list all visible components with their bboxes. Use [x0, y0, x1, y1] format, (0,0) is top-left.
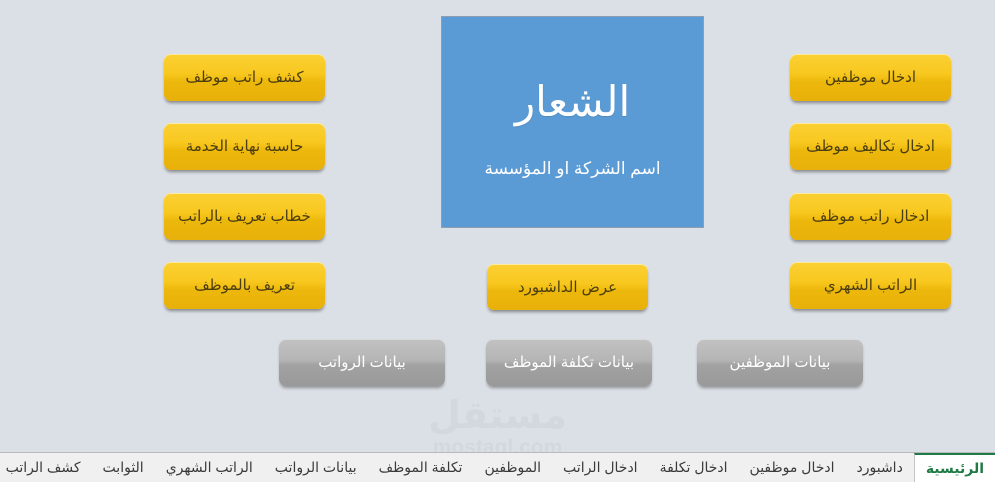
- sheet-tab-label: ادخال تكلفة: [660, 459, 728, 476]
- employees-data-button[interactable]: بيانات الموظفين: [697, 339, 863, 386]
- sheet-tab-5[interactable]: الموظفين: [473, 453, 552, 482]
- end-of-service-calc-button[interactable]: حاسبة نهاية الخدمة: [164, 123, 325, 170]
- monthly-salary-button[interactable]: الراتب الشهري: [790, 262, 951, 309]
- sheet-tab-label: تكلفة الموظف: [379, 459, 463, 476]
- sheet-tab-label: ادخال موظفين: [750, 459, 835, 476]
- add-employee-costs-button[interactable]: ادخال تكاليف موظف: [790, 123, 951, 170]
- sheet-tab-label: كشف الراتب: [6, 459, 81, 476]
- sheet-tab-label: داشبورد: [857, 459, 903, 476]
- sheet-tab-label: الموظفين: [484, 459, 541, 476]
- sheet-tab-9[interactable]: الثوابت: [92, 453, 155, 482]
- salary-letter-button[interactable]: خطاب تعريف بالراتب: [164, 193, 325, 240]
- logo-title: الشعار: [515, 79, 630, 125]
- sheet-tab-3[interactable]: ادخال تكلفة: [649, 453, 739, 482]
- add-employees-button[interactable]: ادخال موظفين: [790, 54, 951, 101]
- watermark-arabic-text: مستقل: [0, 397, 995, 435]
- payslip-report-button[interactable]: كشف راتب موظف: [164, 54, 325, 101]
- sheet-tab-bar[interactable]: الرئيسيةداشبوردادخال موظفينادخال تكلفةاد…: [0, 452, 995, 482]
- employee-identification-button[interactable]: تعريف بالموظف: [164, 262, 325, 309]
- sheet-tab-8[interactable]: الراتب الشهري: [155, 453, 264, 482]
- watermark-latin-text: mostaql.com: [0, 437, 995, 452]
- main-menu-canvas: مستقل mostaql.com الشعار اسم الشركة او ا…: [0, 0, 995, 452]
- company-logo-panel: الشعار اسم الشركة او المؤسسة: [441, 16, 704, 228]
- sheet-tab-7[interactable]: بيانات الرواتب: [264, 453, 368, 482]
- sheet-tab-label: الثوابت: [103, 459, 144, 476]
- sheet-tab-6[interactable]: تكلفة الموظف: [368, 453, 474, 482]
- sheet-tab-10[interactable]: كشف الراتب: [0, 453, 92, 482]
- logo-subtitle: اسم الشركة او المؤسسة: [484, 159, 660, 179]
- sheet-tab-label: الرئيسية: [926, 460, 984, 477]
- employee-cost-data-button[interactable]: بيانات تكلفة الموظف: [486, 339, 652, 386]
- sheet-tab-1[interactable]: داشبورد: [846, 453, 914, 482]
- sheet-tab-label: ادخال الراتب: [563, 459, 638, 476]
- sheet-tab-0[interactable]: الرئيسية: [914, 453, 995, 482]
- mostaql-watermark: مستقل mostaql.com: [0, 397, 995, 452]
- add-employee-salary-button[interactable]: ادخال راتب موظف: [790, 193, 951, 240]
- salaries-data-button[interactable]: بيانات الرواتب: [279, 339, 445, 386]
- sheet-tab-label: الراتب الشهري: [166, 459, 253, 476]
- sheet-tab-2[interactable]: ادخال موظفين: [739, 453, 846, 482]
- sheet-tab-label: بيانات الرواتب: [275, 459, 357, 476]
- sheet-tab-4[interactable]: ادخال الراتب: [552, 453, 649, 482]
- show-dashboard-button[interactable]: عرض الداشبورد: [487, 264, 648, 310]
